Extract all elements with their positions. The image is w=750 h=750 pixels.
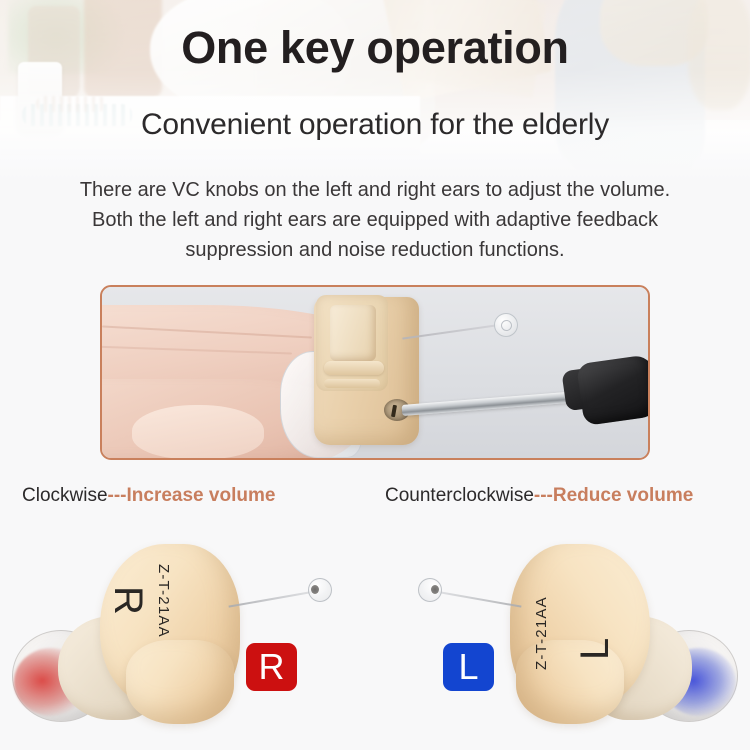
badge-right-label: R (259, 649, 285, 685)
caption-counterclockwise-sep: --- (534, 485, 553, 506)
left-filament-bead (418, 578, 442, 602)
demo-photo-frame (100, 285, 650, 460)
caption-counterclockwise-label: Counterclockwise (385, 485, 534, 506)
right-filament (229, 590, 316, 607)
filament-bead (494, 313, 518, 337)
caption-counterclockwise-accent: Reduce volume (553, 485, 693, 506)
caption-clockwise-accent: Increase volume (127, 485, 276, 506)
page-title: One key operation (0, 22, 750, 74)
caption-clockwise: Clockwise---Increase volume (22, 485, 275, 507)
description-text: There are VC knobs on the left and right… (0, 175, 750, 265)
description-line-3: suppression and noise reduction function… (0, 235, 750, 265)
caption-clockwise-label: Clockwise (22, 485, 108, 506)
description-line-2: Both the left and right ears are equippe… (0, 205, 750, 235)
badge-left: L (443, 643, 494, 691)
product-left-ear: Z-T-21AA L L (375, 520, 750, 750)
microphone-port (346, 407, 360, 421)
description-line-1: There are VC knobs on the left and right… (0, 175, 750, 205)
caption-counterclockwise: Counterclockwise---Reduce volume (385, 485, 693, 507)
left-filament (435, 590, 522, 607)
product-infographic-page: One key operation Convenient operation f… (0, 0, 750, 750)
screwdriver-handle (576, 354, 650, 426)
page-subtitle: Convenient operation for the elderly (0, 108, 750, 142)
right-filament-bead (308, 578, 332, 602)
badge-right: R (246, 643, 297, 691)
right-side-mark: R (108, 586, 148, 615)
hero-banner: One key operation Convenient operation f… (0, 0, 750, 182)
left-side-mark: L (575, 638, 615, 660)
right-model-label: Z-T-21AA (155, 564, 172, 638)
product-right-ear: Z-T-21AA R R (0, 520, 375, 750)
left-model-label: Z-T-21AA (533, 596, 550, 670)
badge-left-label: L (458, 649, 478, 685)
caption-clockwise-sep: --- (108, 485, 127, 506)
